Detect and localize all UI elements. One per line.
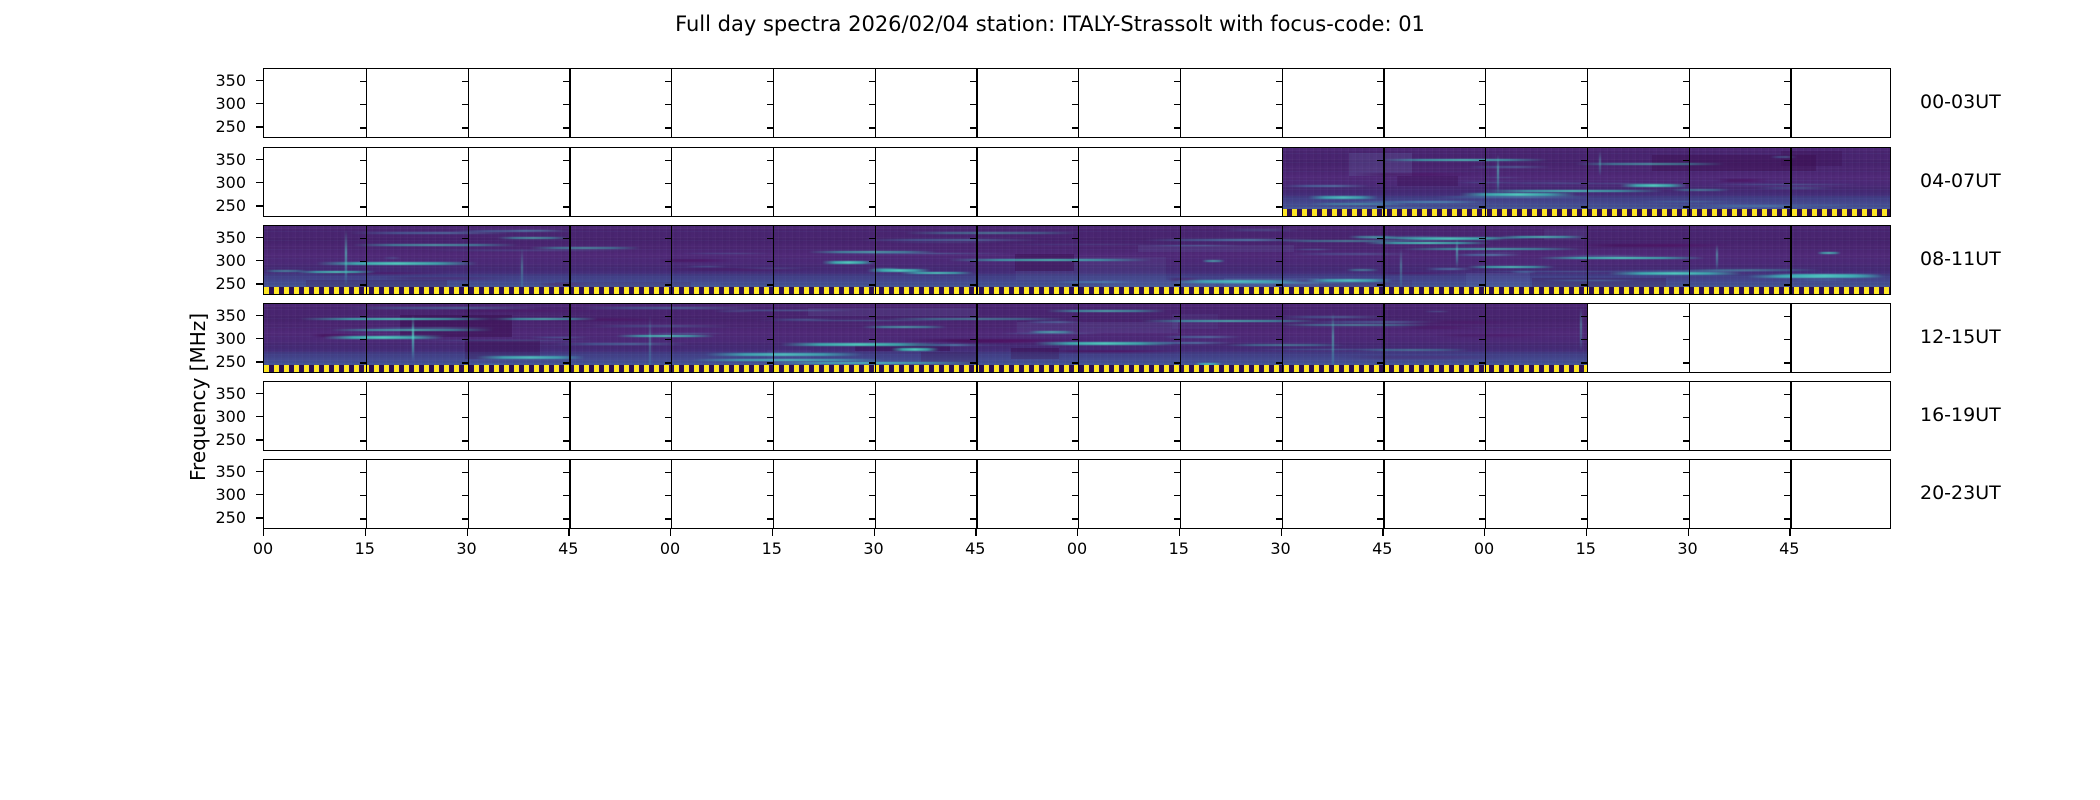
y-tick-minor bbox=[1581, 81, 1587, 82]
subpanel-separator bbox=[1180, 226, 1181, 294]
subpanel-separator bbox=[1790, 226, 1791, 294]
subpanel-separator bbox=[773, 226, 774, 294]
y-tick-minor bbox=[1377, 417, 1383, 418]
y-tick-minor bbox=[1072, 238, 1078, 239]
subpanel-separator bbox=[468, 304, 469, 372]
subpanel-separator bbox=[1078, 382, 1079, 450]
y-tick-minor bbox=[563, 104, 569, 105]
y-tick-minor bbox=[665, 104, 671, 105]
y-tick-minor bbox=[665, 495, 671, 496]
spectro-streak bbox=[529, 247, 641, 249]
spectro-streak bbox=[1575, 163, 1725, 165]
x-tick-label: 15 bbox=[752, 539, 792, 558]
subpanel-separator bbox=[976, 69, 977, 137]
y-tick bbox=[256, 471, 263, 472]
x-tick-label: 00 bbox=[650, 539, 690, 558]
spectro-burst bbox=[316, 262, 478, 265]
y-tick-minor bbox=[1377, 127, 1383, 128]
y-tick-minor bbox=[1276, 81, 1282, 82]
y-tick-minor bbox=[1683, 339, 1689, 340]
y-tick-minor bbox=[1174, 472, 1180, 473]
y-tick-label: 250 bbox=[186, 117, 246, 136]
y-tick-minor bbox=[1683, 104, 1689, 105]
subpanel-separator bbox=[1485, 226, 1486, 294]
y-tick-minor bbox=[1683, 472, 1689, 473]
y-tick-minor bbox=[1784, 440, 1790, 441]
subpanel-separator bbox=[1078, 460, 1079, 528]
spectro-streak bbox=[553, 343, 688, 345]
y-tick-minor bbox=[1683, 440, 1689, 441]
x-tick bbox=[1281, 529, 1282, 536]
subpanel-separator bbox=[1689, 304, 1690, 372]
y-tick-minor bbox=[360, 261, 366, 262]
y-tick-minor bbox=[1377, 261, 1383, 262]
spectro-burst bbox=[1034, 342, 1176, 345]
y-tick-minor bbox=[462, 127, 468, 128]
y-tick-minor bbox=[563, 238, 569, 239]
subpanel-separator bbox=[1587, 148, 1588, 216]
subpanel-separator bbox=[468, 69, 469, 137]
subpanel-separator bbox=[366, 226, 367, 294]
y-tick bbox=[256, 159, 263, 160]
spectro-burst bbox=[323, 336, 443, 339]
y-tick-minor bbox=[563, 394, 569, 395]
x-tick bbox=[772, 529, 773, 536]
subpanel-separator bbox=[569, 69, 570, 137]
spectro-streak bbox=[1578, 244, 1733, 247]
y-tick-minor bbox=[1377, 206, 1383, 207]
subpanel-separator bbox=[366, 304, 367, 372]
y-tick-minor bbox=[1377, 183, 1383, 184]
y-tick-minor bbox=[1581, 261, 1587, 262]
y-tick-minor bbox=[1683, 284, 1689, 285]
y-tick-minor bbox=[665, 206, 671, 207]
y-tick bbox=[256, 439, 263, 440]
x-tick-label: 15 bbox=[1566, 539, 1606, 558]
subpanel-separator bbox=[1689, 148, 1690, 216]
y-tick-label: 350 bbox=[186, 71, 246, 90]
y-tick-minor bbox=[1072, 284, 1078, 285]
spectro-band bbox=[1015, 254, 1074, 270]
y-tick-minor bbox=[1479, 472, 1485, 473]
y-tick-minor bbox=[1784, 316, 1790, 317]
spectro-streak bbox=[1395, 238, 1504, 240]
y-tick bbox=[256, 103, 263, 104]
y-tick bbox=[256, 260, 263, 261]
subpanel-separator bbox=[773, 304, 774, 372]
y-tick-minor bbox=[1581, 104, 1587, 105]
subpanel-separator bbox=[1485, 460, 1486, 528]
y-tick-minor bbox=[1377, 495, 1383, 496]
y-tick-minor bbox=[869, 127, 875, 128]
y-tick-label: 300 bbox=[186, 485, 246, 504]
y-tick-minor bbox=[665, 284, 671, 285]
y-tick-minor bbox=[1377, 238, 1383, 239]
y-tick-minor bbox=[1276, 160, 1282, 161]
y-tick-minor bbox=[462, 160, 468, 161]
y-tick-minor bbox=[1072, 362, 1078, 363]
subpanel-separator bbox=[468, 148, 469, 216]
subpanel-separator bbox=[671, 460, 672, 528]
y-tick-minor bbox=[1784, 394, 1790, 395]
y-tick-minor bbox=[462, 81, 468, 82]
subpanel-separator bbox=[875, 382, 876, 450]
row-time-label: 00-03UT bbox=[1920, 91, 2001, 113]
subpanel-separator bbox=[1790, 148, 1791, 216]
y-tick-minor bbox=[1174, 160, 1180, 161]
y-tick-minor bbox=[1072, 183, 1078, 184]
subpanel-separator bbox=[1383, 382, 1384, 450]
y-tick-label: 250 bbox=[186, 196, 246, 215]
x-tick bbox=[1077, 529, 1078, 536]
y-tick-label: 250 bbox=[186, 430, 246, 449]
y-tick-minor bbox=[563, 261, 569, 262]
spectro-burst bbox=[891, 348, 939, 351]
y-tick-minor bbox=[970, 472, 976, 473]
y-tick-minor bbox=[1784, 183, 1790, 184]
row-time-label: 20-23UT bbox=[1920, 482, 2001, 504]
y-tick-minor bbox=[563, 440, 569, 441]
y-tick-minor bbox=[1581, 495, 1587, 496]
y-tick-minor bbox=[1581, 417, 1587, 418]
y-tick-minor bbox=[360, 81, 366, 82]
y-tick bbox=[256, 416, 263, 417]
y-tick-minor bbox=[462, 104, 468, 105]
subpanel-separator bbox=[1485, 69, 1486, 137]
y-tick-minor bbox=[1683, 261, 1689, 262]
y-tick-label: 350 bbox=[186, 462, 246, 481]
spectrogram-row: 250300350 bbox=[263, 225, 1891, 295]
y-tick-minor bbox=[1479, 183, 1485, 184]
row-time-label: 16-19UT bbox=[1920, 404, 2001, 426]
spectro-streak bbox=[1346, 269, 1379, 271]
y-tick-minor bbox=[360, 284, 366, 285]
y-tick-minor bbox=[1174, 495, 1180, 496]
spectro-band bbox=[1138, 245, 1294, 251]
y-tick-minor bbox=[1479, 160, 1485, 161]
subpanel-separator bbox=[1587, 460, 1588, 528]
y-tick-minor bbox=[1683, 417, 1689, 418]
subpanel-separator bbox=[569, 148, 570, 216]
spectro-streak bbox=[588, 325, 732, 327]
subpanel-separator bbox=[671, 382, 672, 450]
x-tick-label: 45 bbox=[1769, 539, 1809, 558]
y-tick-minor bbox=[1174, 316, 1180, 317]
spectrogram-row: 250300350 bbox=[263, 303, 1891, 373]
y-tick-minor bbox=[1276, 206, 1282, 207]
y-tick-minor bbox=[1683, 518, 1689, 519]
subpanel-separator bbox=[366, 460, 367, 528]
y-tick-minor bbox=[1683, 160, 1689, 161]
y-tick-minor bbox=[1581, 127, 1587, 128]
y-tick-minor bbox=[1276, 440, 1282, 441]
y-tick-minor bbox=[767, 316, 773, 317]
y-tick-minor bbox=[1174, 362, 1180, 363]
spectro-streak bbox=[297, 271, 376, 273]
spectro-streak bbox=[1289, 253, 1415, 255]
y-tick-minor bbox=[1072, 339, 1078, 340]
x-tick bbox=[1382, 529, 1383, 536]
row-axes bbox=[263, 147, 1891, 217]
y-tick-minor bbox=[767, 160, 773, 161]
y-tick-minor bbox=[1072, 104, 1078, 105]
spectro-streak bbox=[1817, 252, 1841, 254]
x-tick-label: 30 bbox=[1668, 539, 1708, 558]
spectro-streak bbox=[363, 327, 496, 329]
x-tick bbox=[1789, 529, 1790, 536]
x-tick-label: 00 bbox=[1464, 539, 1504, 558]
subpanel-separator bbox=[366, 382, 367, 450]
y-tick-minor bbox=[1072, 440, 1078, 441]
y-tick-minor bbox=[1479, 127, 1485, 128]
x-tick-label: 00 bbox=[1057, 539, 1097, 558]
y-tick-minor bbox=[1174, 261, 1180, 262]
subpanel-separator bbox=[366, 148, 367, 216]
y-tick-minor bbox=[665, 127, 671, 128]
y-tick-label: 350 bbox=[186, 228, 246, 247]
y-tick-minor bbox=[1683, 183, 1689, 184]
y-tick-minor bbox=[1377, 316, 1383, 317]
y-tick bbox=[256, 80, 263, 81]
y-tick-minor bbox=[1072, 81, 1078, 82]
y-tick-minor bbox=[1784, 160, 1790, 161]
subpanel-separator bbox=[468, 382, 469, 450]
subpanel-separator bbox=[1383, 226, 1384, 294]
y-tick-minor bbox=[970, 518, 976, 519]
y-tick-minor bbox=[462, 417, 468, 418]
y-tick-minor bbox=[970, 104, 976, 105]
x-tick bbox=[365, 529, 366, 536]
subpanel-separator bbox=[1180, 69, 1181, 137]
y-tick-minor bbox=[1072, 316, 1078, 317]
row-axes bbox=[263, 68, 1891, 138]
x-tick bbox=[568, 529, 569, 536]
subpanel-separator bbox=[569, 304, 570, 372]
y-tick-minor bbox=[869, 160, 875, 161]
y-tick-minor bbox=[1174, 127, 1180, 128]
x-tick-label: 45 bbox=[955, 539, 995, 558]
subpanel-separator bbox=[1485, 382, 1486, 450]
spectro-streak bbox=[1500, 236, 1586, 238]
subpanel-separator bbox=[1282, 460, 1283, 528]
y-tick-minor bbox=[1377, 104, 1383, 105]
y-tick bbox=[256, 126, 263, 127]
y-tick-minor bbox=[1174, 440, 1180, 441]
y-tick-minor bbox=[1581, 472, 1587, 473]
subpanel-separator bbox=[1790, 460, 1791, 528]
y-tick-minor bbox=[970, 316, 976, 317]
y-tick-minor bbox=[360, 183, 366, 184]
y-tick-label: 350 bbox=[186, 384, 246, 403]
y-tick-minor bbox=[869, 104, 875, 105]
subpanel-separator bbox=[773, 69, 774, 137]
y-tick-minor bbox=[1072, 518, 1078, 519]
spectro-vertical-burst bbox=[1456, 239, 1458, 268]
y-tick bbox=[256, 494, 263, 495]
y-tick-minor bbox=[1784, 362, 1790, 363]
y-tick-minor bbox=[1784, 417, 1790, 418]
y-tick-label: 300 bbox=[186, 173, 246, 192]
y-tick-minor bbox=[869, 472, 875, 473]
y-tick-minor bbox=[665, 472, 671, 473]
y-tick-minor bbox=[970, 238, 976, 239]
spectro-streak bbox=[383, 257, 401, 259]
y-tick-minor bbox=[563, 417, 569, 418]
spectro-streak bbox=[1425, 268, 1472, 270]
y-tick-minor bbox=[1479, 316, 1485, 317]
subpanel-separator bbox=[468, 460, 469, 528]
y-tick-minor bbox=[360, 104, 366, 105]
subpanel-separator bbox=[1180, 148, 1181, 216]
y-tick-label: 300 bbox=[186, 251, 246, 270]
y-tick-minor bbox=[563, 362, 569, 363]
y-tick-minor bbox=[767, 284, 773, 285]
subpanel-separator bbox=[468, 226, 469, 294]
spectro-streak bbox=[754, 320, 958, 322]
spectro-streak bbox=[352, 244, 517, 246]
spectro-streak bbox=[1716, 179, 1770, 182]
y-tick-minor bbox=[462, 362, 468, 363]
event-marker-strip bbox=[264, 365, 1587, 372]
y-tick-minor bbox=[1174, 518, 1180, 519]
subpanel-separator bbox=[875, 69, 876, 137]
row-axes bbox=[263, 381, 1891, 451]
y-tick bbox=[256, 393, 263, 394]
spectro-streak bbox=[497, 237, 569, 239]
y-tick-minor bbox=[869, 495, 875, 496]
y-tick-minor bbox=[1784, 495, 1790, 496]
x-tick bbox=[1688, 529, 1689, 536]
y-tick-minor bbox=[1377, 518, 1383, 519]
y-tick-minor bbox=[563, 339, 569, 340]
y-tick-minor bbox=[869, 339, 875, 340]
subpanel-separator bbox=[773, 148, 774, 216]
y-tick-minor bbox=[1581, 362, 1587, 363]
spectro-burst bbox=[867, 269, 932, 272]
y-tick-minor bbox=[1072, 417, 1078, 418]
x-tick-label: 45 bbox=[1362, 539, 1402, 558]
y-tick-minor bbox=[360, 362, 366, 363]
y-tick-minor bbox=[665, 183, 671, 184]
spectro-streak bbox=[943, 340, 1048, 343]
y-tick-minor bbox=[1377, 339, 1383, 340]
spectro-streak bbox=[1144, 239, 1318, 241]
spectro-streak bbox=[1380, 159, 1548, 161]
y-tick-minor bbox=[970, 206, 976, 207]
subpanel-separator bbox=[1790, 304, 1791, 372]
y-tick-minor bbox=[360, 440, 366, 441]
y-tick-minor bbox=[1174, 104, 1180, 105]
y-tick-minor bbox=[462, 339, 468, 340]
subpanel-separator bbox=[1383, 460, 1384, 528]
subpanel-separator bbox=[1282, 304, 1283, 372]
row-time-label: 04-07UT bbox=[1920, 170, 2001, 192]
row-axes bbox=[263, 303, 1891, 373]
y-tick-minor bbox=[1784, 206, 1790, 207]
y-tick-minor bbox=[1784, 472, 1790, 473]
x-tick bbox=[1179, 529, 1180, 536]
spectro-streak bbox=[616, 335, 715, 337]
subpanel-separator bbox=[976, 148, 977, 216]
spectro-streak bbox=[1025, 321, 1084, 323]
subpanel-separator bbox=[875, 460, 876, 528]
y-tick-label: 250 bbox=[186, 352, 246, 371]
y-tick-minor bbox=[869, 417, 875, 418]
spectro-streak bbox=[349, 232, 512, 234]
y-tick-minor bbox=[1174, 81, 1180, 82]
subpanel-separator bbox=[875, 226, 876, 294]
y-tick-minor bbox=[1479, 417, 1485, 418]
y-tick-minor bbox=[970, 127, 976, 128]
y-tick-minor bbox=[1174, 339, 1180, 340]
y-tick-minor bbox=[767, 339, 773, 340]
y-tick-minor bbox=[1377, 160, 1383, 161]
x-tick-label: 30 bbox=[447, 539, 487, 558]
y-tick-minor bbox=[767, 81, 773, 82]
spectro-streak bbox=[680, 253, 775, 255]
spectro-streak bbox=[1404, 321, 1518, 324]
subpanel-separator bbox=[1180, 382, 1181, 450]
spectro-streak bbox=[451, 230, 573, 232]
y-tick-minor bbox=[1276, 495, 1282, 496]
y-tick-minor bbox=[970, 284, 976, 285]
y-tick-minor bbox=[1072, 495, 1078, 496]
subpanel-separator bbox=[1689, 226, 1690, 294]
y-tick-minor bbox=[462, 183, 468, 184]
subpanel-separator bbox=[1689, 382, 1690, 450]
y-tick-minor bbox=[767, 495, 773, 496]
y-tick-minor bbox=[462, 261, 468, 262]
y-tick-minor bbox=[1377, 284, 1383, 285]
y-tick-minor bbox=[767, 394, 773, 395]
y-tick-minor bbox=[563, 81, 569, 82]
spectro-streak bbox=[1467, 166, 1551, 168]
y-tick-minor bbox=[1276, 518, 1282, 519]
y-tick-minor bbox=[462, 238, 468, 239]
y-tick-minor bbox=[1683, 394, 1689, 395]
spectro-streak bbox=[1351, 173, 1480, 176]
subpanel-separator bbox=[1383, 304, 1384, 372]
y-tick-minor bbox=[1581, 339, 1587, 340]
y-tick-minor bbox=[767, 183, 773, 184]
x-tick bbox=[467, 529, 468, 536]
y-tick-minor bbox=[1479, 339, 1485, 340]
y-tick-minor bbox=[869, 518, 875, 519]
spectro-streak bbox=[1671, 189, 1731, 191]
row-axes bbox=[263, 225, 1891, 295]
spectro-streak bbox=[437, 309, 606, 312]
y-tick-label: 300 bbox=[186, 329, 246, 348]
spectro-streak bbox=[341, 307, 545, 309]
subpanel-separator bbox=[1383, 69, 1384, 137]
y-tick-minor bbox=[360, 206, 366, 207]
subpanel-separator bbox=[569, 226, 570, 294]
y-tick bbox=[256, 237, 263, 238]
y-tick bbox=[256, 205, 263, 206]
subpanel-separator bbox=[1587, 382, 1588, 450]
subpanel-separator bbox=[1078, 226, 1079, 294]
y-tick-minor bbox=[563, 206, 569, 207]
y-tick-minor bbox=[970, 495, 976, 496]
y-tick-minor bbox=[1072, 472, 1078, 473]
x-tick-label: 30 bbox=[854, 539, 894, 558]
spectro-streak bbox=[1770, 156, 1797, 158]
subpanel-separator bbox=[1282, 148, 1283, 216]
y-tick-minor bbox=[970, 183, 976, 184]
y-tick-minor bbox=[1581, 183, 1587, 184]
x-tick-label: 45 bbox=[548, 539, 588, 558]
y-tick bbox=[256, 361, 263, 362]
